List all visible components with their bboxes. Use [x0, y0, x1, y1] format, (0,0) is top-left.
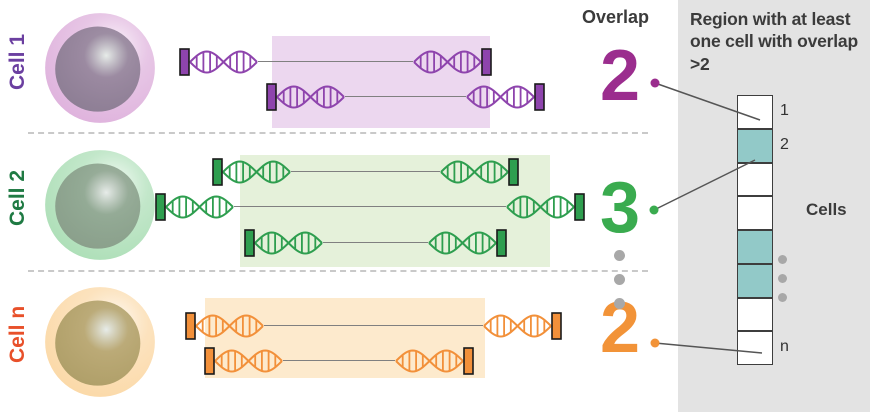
- connector-celln: [651, 339, 763, 354]
- diagram-canvas: Region with at least one cell with overl…: [0, 0, 870, 412]
- connector-cell1: [651, 79, 761, 121]
- row-divider-1: [28, 132, 648, 134]
- connector-cell2: [650, 160, 756, 215]
- connector-lines: [0, 0, 870, 412]
- row-divider-2: [28, 270, 648, 272]
